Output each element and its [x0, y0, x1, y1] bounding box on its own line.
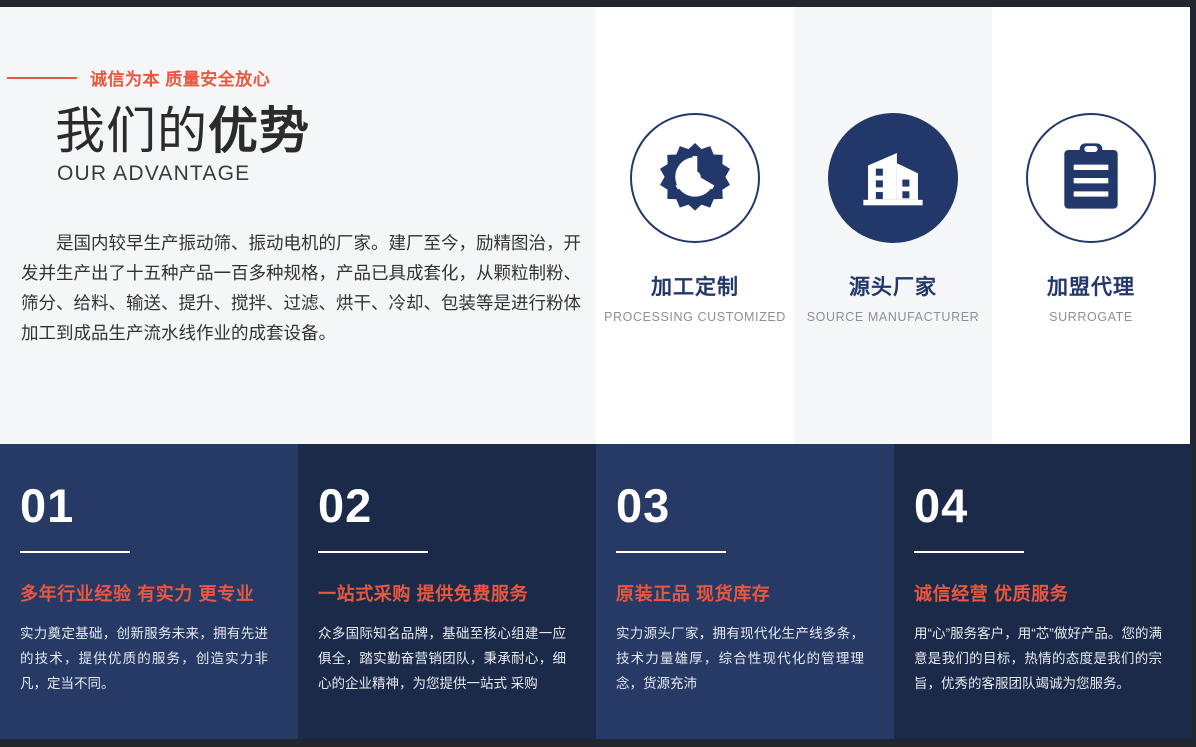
- factory-building-icon: [854, 139, 932, 217]
- page-root: 诚信为本 质量安全放心 我们的优势 OUR ADVANTAGE 是国内较早生产振…: [0, 0, 1196, 747]
- panel-heading: 多年行业经验 有实力 更专业: [20, 580, 268, 606]
- accent-line-decoration: [7, 77, 77, 79]
- page-title-light: 我们的: [55, 103, 208, 159]
- feature-card-source-manufacturer[interactable]: 源头厂家 SOURCE MANUFACTURER: [794, 7, 992, 444]
- feature-card-processing-customized[interactable]: 加工定制 PROCESSING CUSTOMIZED: [596, 7, 794, 444]
- numbered-panel-02[interactable]: 02 一站式采购 提供免费服务 众多国际知名品牌，基础至核心组建一应俱全，踏实勤…: [298, 444, 596, 739]
- feature-card-list: 加工定制 PROCESSING CUSTOMIZED: [596, 7, 1196, 444]
- feature-circle: [1026, 113, 1156, 243]
- clipboard-icon: [1057, 142, 1125, 214]
- top-section: 诚信为本 质量安全放心 我们的优势 OUR ADVANTAGE 是国内较早生产振…: [0, 7, 1196, 444]
- feature-card-subtitle: SURROGATE: [1049, 310, 1133, 324]
- panel-divider: [616, 551, 726, 553]
- intro-paragraph: 是国内较早生产振动筛、振动电机的厂家。建厂至今，励精图治，开发并生产出了十五种产…: [21, 228, 587, 348]
- numbered-panel-list: 01 多年行业经验 有实力 更专业 实力奠定基础，创新服务未来，拥有先进的技术，…: [0, 444, 1196, 739]
- gear-icon: [657, 140, 733, 216]
- panel-heading: 原装正品 现货库存: [616, 580, 864, 606]
- feature-circle: [630, 113, 760, 243]
- feature-card-surrogate[interactable]: 加盟代理 SURROGATE: [992, 7, 1190, 444]
- page-title: 我们的优势: [55, 104, 596, 158]
- tagline-text: 诚信为本 质量安全放心: [90, 65, 270, 90]
- panel-number: 01: [20, 482, 268, 529]
- feature-circle: [828, 113, 958, 243]
- panel-divider: [20, 551, 130, 553]
- panel-body: 实力源头厂家，拥有现代化生产线多条，技术力量雄厚，综合性现代化的管理理念，货源充…: [616, 621, 864, 696]
- panel-divider: [318, 551, 428, 553]
- panel-body: 用“心”服务客户，用“芯”做好产品。您的满意是我们的目标，热情的态度是我们的宗旨…: [914, 621, 1162, 696]
- tagline-row: 诚信为本 质量安全放心: [7, 65, 596, 90]
- panel-body: 众多国际知名品牌，基础至核心组建一应俱全，踏实勤奋营销团队，秉承耐心，细心的企业…: [318, 621, 566, 696]
- panel-heading: 诚信经营 优质服务: [914, 580, 1162, 606]
- panel-divider: [914, 551, 1024, 553]
- panel-body: 实力奠定基础，创新服务未来，拥有先进的技术，提供优质的服务，创造实力非凡，定当不…: [20, 621, 268, 696]
- feature-card-title: 加工定制: [651, 271, 739, 301]
- feature-card-subtitle: SOURCE MANUFACTURER: [807, 310, 980, 324]
- numbered-panel-01[interactable]: 01 多年行业经验 有实力 更专业 实力奠定基础，创新服务未来，拥有先进的技术，…: [0, 444, 298, 739]
- numbered-panel-03[interactable]: 03 原装正品 现货库存 实力源头厂家，拥有现代化生产线多条，技术力量雄厚，综合…: [596, 444, 894, 739]
- page-title-bold: 优势: [208, 103, 310, 159]
- numbered-panel-04[interactable]: 04 诚信经营 优质服务 用“心”服务客户，用“芯”做好产品。您的满意是我们的目…: [894, 444, 1192, 739]
- panel-number: 03: [616, 482, 864, 529]
- panel-heading: 一站式采购 提供免费服务: [318, 580, 566, 606]
- page-title-english: OUR ADVANTAGE: [57, 162, 596, 186]
- feature-card-title: 加盟代理: [1047, 271, 1135, 301]
- panel-number: 04: [914, 482, 1162, 529]
- panel-number: 02: [318, 482, 566, 529]
- feature-card-title: 源头厂家: [849, 271, 937, 301]
- feature-card-subtitle: PROCESSING CUSTOMIZED: [604, 310, 786, 324]
- advantage-panel: 诚信为本 质量安全放心 我们的优势 OUR ADVANTAGE 是国内较早生产振…: [0, 7, 596, 444]
